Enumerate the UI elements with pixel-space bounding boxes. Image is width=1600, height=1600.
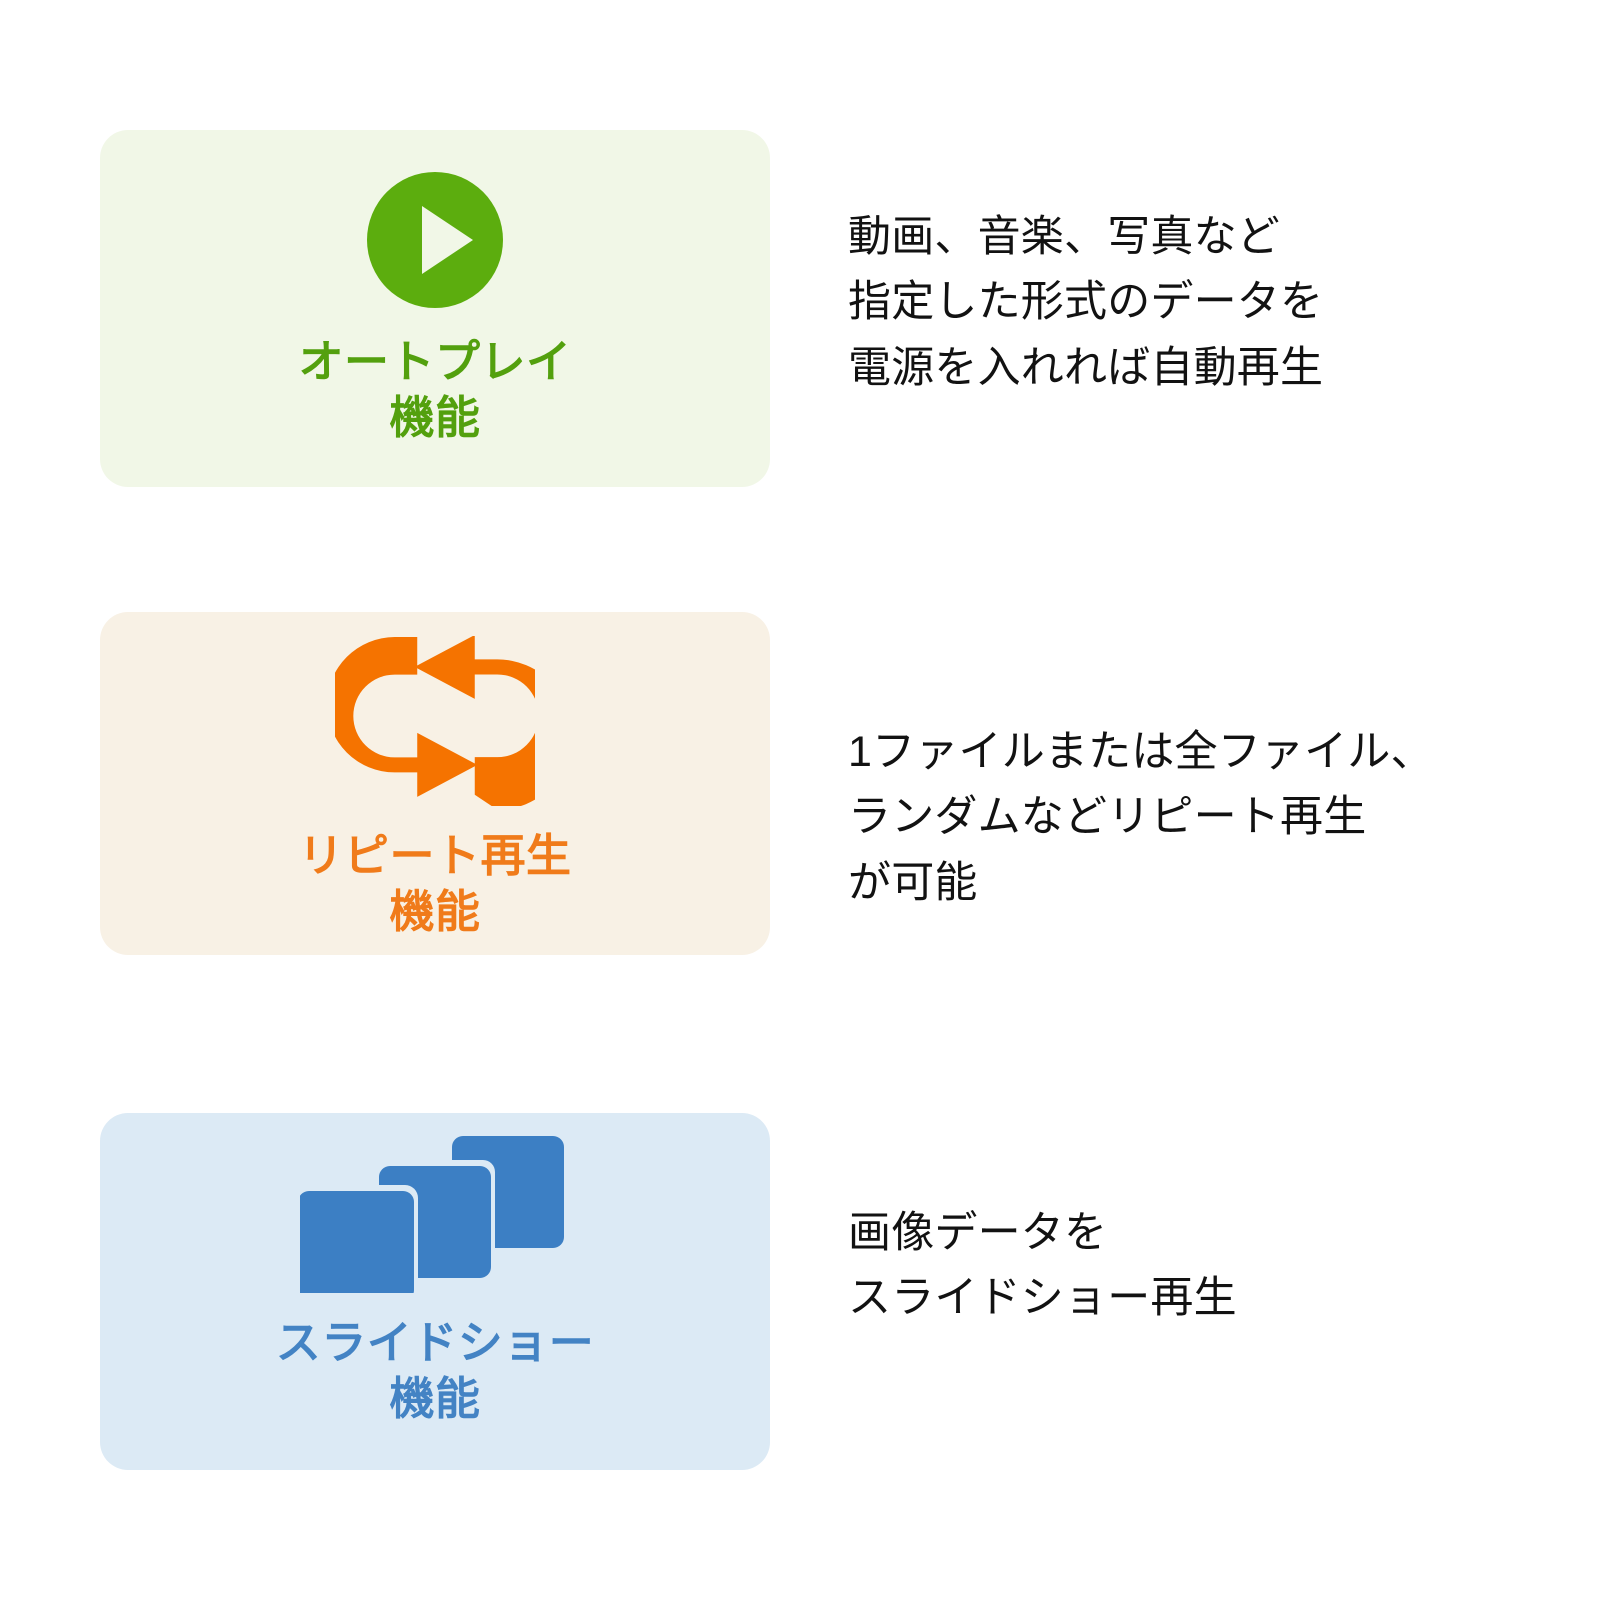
- feature-description-autoplay: 動画、音楽、写真など 指定した形式のデータを 電源を入れれば自動再生: [848, 205, 1548, 401]
- play-circle-icon: [365, 170, 505, 310]
- feature-description-slideshow: 画像データを スライドショー再生: [848, 1201, 1548, 1332]
- feature-title-repeat-play: リピート再生 機能: [298, 828, 571, 940]
- feature-card-autoplay: オートプレイ 機能: [100, 130, 770, 487]
- feature-card-slideshow: スライドショー 機能: [100, 1113, 770, 1470]
- stacked-photos-icon: [300, 1128, 570, 1293]
- feature-title-autoplay: オートプレイ 機能: [298, 334, 571, 446]
- feature-list-page: オートプレイ 機能 動画、音楽、写真など 指定した形式のデータを 電源を入れれば…: [0, 0, 1600, 1600]
- feature-title-slideshow: スライドショー 機能: [276, 1315, 595, 1427]
- repeat-loop-icon: [335, 636, 535, 806]
- feature-card-repeat-play: リピート再生 機能: [100, 612, 770, 955]
- feature-description-repeat-play: 1ファイルまたは全ファイル、 ランダムなどリピート再生 が可能: [848, 720, 1548, 916]
